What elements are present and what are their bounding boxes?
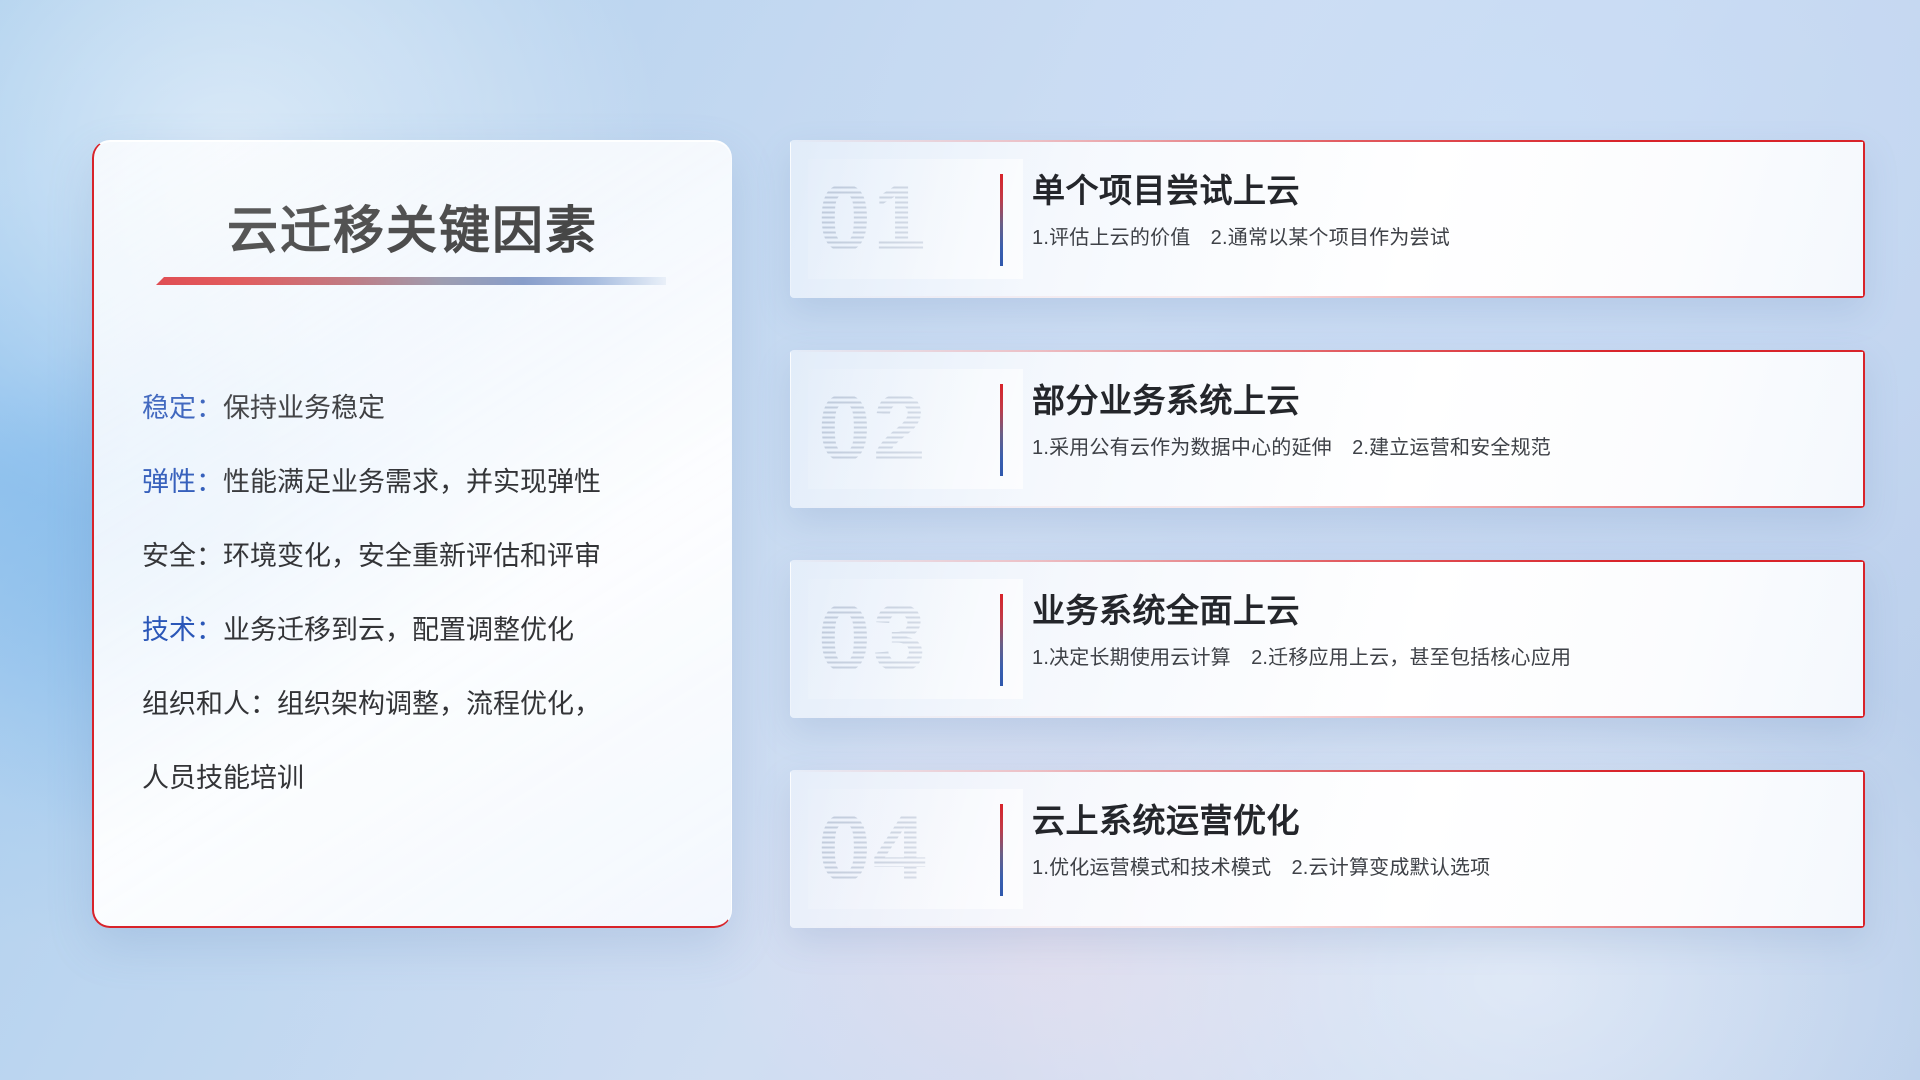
step-divider-bar xyxy=(1000,174,1003,266)
step-text-block: 业务系统全面上云 1.决定长期使用云计算 2.迁移应用上云，甚至包括核心应用 xyxy=(1032,590,1839,671)
factor-text: 人员技能培训 xyxy=(142,763,304,793)
slide-stage: 云迁移关键因素 稳定：保持业务稳定 弹性：性能满足业务需求，并实现弹性 安全：环… xyxy=(0,0,1920,1080)
title-underline-rule xyxy=(156,277,666,285)
step-description: 1.决定长期使用云计算 2.迁移应用上云，甚至包括核心应用 xyxy=(1032,645,1839,671)
factor-list: 稳定：保持业务稳定 弹性：性能满足业务需求，并实现弹性 安全：环境变化，安全重新… xyxy=(142,371,695,815)
step-title: 业务系统全面上云 xyxy=(1032,590,1839,631)
step-number-04: 04 xyxy=(818,802,928,897)
card-bottom-edge xyxy=(790,506,1865,508)
step-description: 1.优化运营模式和技术模式 2.云计算变成默认选项 xyxy=(1032,855,1839,881)
card-bottom-edge xyxy=(790,716,1865,718)
factor-text: 业务迁移到云，配置调整优化 xyxy=(223,615,574,645)
step-description: 1.采用公有云作为数据中心的延伸 2.建立运营和安全规范 xyxy=(1032,435,1839,461)
step-text-block: 部分业务系统上云 1.采用公有云作为数据中心的延伸 2.建立运营和安全规范 xyxy=(1032,380,1839,461)
list-item: 人员技能培训 xyxy=(142,741,695,815)
factor-label: 组织和人： xyxy=(142,689,277,719)
factor-label: 技术： xyxy=(142,615,223,645)
step-card-03[interactable]: 03 业务系统全面上云 1.决定长期使用云计算 2.迁移应用上云，甚至包括核心应… xyxy=(790,560,1865,718)
step-title: 云上系统运营优化 xyxy=(1032,800,1839,841)
step-divider-bar xyxy=(1000,594,1003,686)
step-text-block: 单个项目尝试上云 1.评估上云的价值 2.通常以某个项目作为尝试 xyxy=(1032,170,1839,251)
step-number-03: 03 xyxy=(818,592,928,687)
card-left-edge xyxy=(790,560,791,718)
page-title: 云迁移关键因素 xyxy=(94,189,731,263)
list-item: 稳定：保持业务稳定 xyxy=(142,371,695,445)
list-item: 组织和人：组织架构调整，流程优化， xyxy=(142,667,695,741)
list-item: 安全：环境变化，安全重新评估和评审 xyxy=(142,519,695,593)
step-number-01: 01 xyxy=(818,172,928,267)
step-divider-bar xyxy=(1000,804,1003,896)
card-left-edge xyxy=(790,350,791,508)
step-card-01[interactable]: 01 单个项目尝试上云 1.评估上云的价值 2.通常以某个项目作为尝试 xyxy=(790,140,1865,298)
factor-label: 稳定： xyxy=(142,393,223,423)
step-divider-bar xyxy=(1000,384,1003,476)
factor-label: 安全： xyxy=(142,541,223,571)
factor-label: 弹性： xyxy=(142,467,223,497)
card-bottom-edge xyxy=(790,926,1865,928)
factor-text: 组织架构调整，流程优化， xyxy=(277,689,601,719)
factor-text: 保持业务稳定 xyxy=(223,393,385,423)
factor-text: 性能满足业务需求，并实现弹性 xyxy=(223,467,601,497)
step-title: 单个项目尝试上云 xyxy=(1032,170,1839,211)
factor-text: 环境变化，安全重新评估和评审 xyxy=(223,541,601,571)
list-item: 弹性：性能满足业务需求，并实现弹性 xyxy=(142,445,695,519)
key-factors-panel: 云迁移关键因素 稳定：保持业务稳定 弹性：性能满足业务需求，并实现弹性 安全：环… xyxy=(92,140,732,928)
step-title: 部分业务系统上云 xyxy=(1032,380,1839,421)
step-number-02: 02 xyxy=(818,382,928,477)
list-item: 技术：业务迁移到云，配置调整优化 xyxy=(142,593,695,667)
step-card-02[interactable]: 02 部分业务系统上云 1.采用公有云作为数据中心的延伸 2.建立运营和安全规范 xyxy=(790,350,1865,508)
card-left-edge xyxy=(790,770,791,928)
step-card-04[interactable]: 04 云上系统运营优化 1.优化运营模式和技术模式 2.云计算变成默认选项 xyxy=(790,770,1865,928)
step-description: 1.评估上云的价值 2.通常以某个项目作为尝试 xyxy=(1032,225,1839,251)
card-bottom-edge xyxy=(790,296,1865,298)
card-left-edge xyxy=(790,140,791,298)
step-text-block: 云上系统运营优化 1.优化运营模式和技术模式 2.云计算变成默认选项 xyxy=(1032,800,1839,881)
